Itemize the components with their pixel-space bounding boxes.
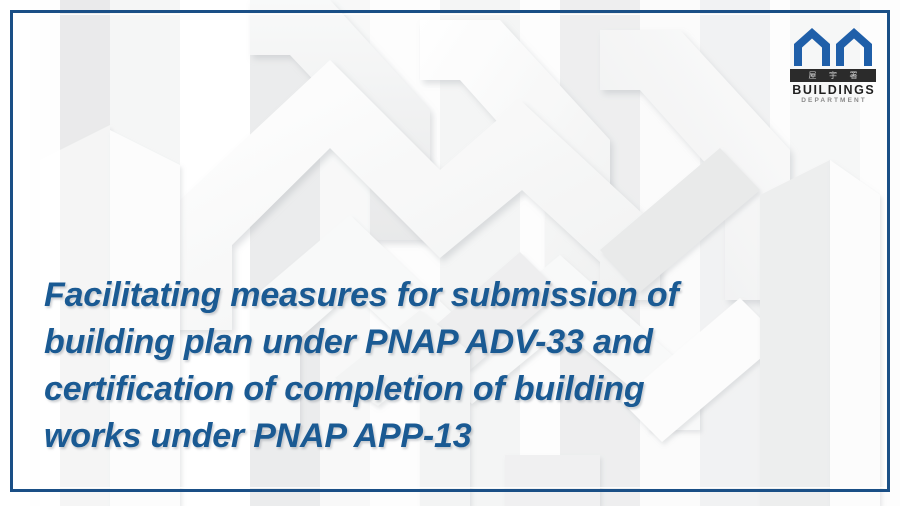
title-line-1: Facilitating measures for submission of [44, 272, 844, 319]
buildings-department-logo: 屋 宇 署 BUILDINGS DEPARTMENT [790, 24, 876, 104]
title-line-3: certification of completion of building [44, 366, 844, 413]
title-line-2: building plan under PNAP ADV-33 and [44, 319, 844, 366]
logo-line-department: DEPARTMENT [790, 98, 876, 105]
title-line-4: works under PNAP APP-13 [44, 413, 844, 460]
logo-line-buildings: BUILDINGS [790, 84, 876, 97]
roof-mark-icon [790, 24, 876, 68]
slide-title: Facilitating measures for submission of … [44, 272, 844, 460]
presentation-slide: 屋 宇 署 BUILDINGS DEPARTMENT Facilitating … [0, 0, 900, 506]
logo-chinese-name: 屋 宇 署 [790, 69, 876, 82]
